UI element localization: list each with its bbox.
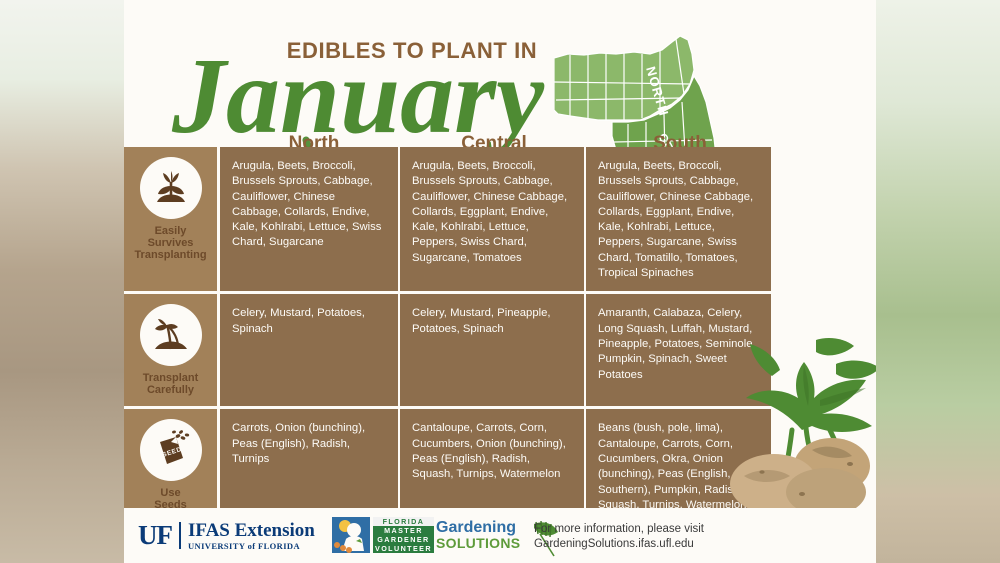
ifas-extension-text: IFAS Extension xyxy=(188,521,315,540)
cell-north-easily-survives-transplanting: Arugula, Beets, Broccoli, Brussels Sprou… xyxy=(220,147,400,291)
potato-plant-illustration xyxy=(716,280,876,510)
mg-line-florida: FLORIDA xyxy=(373,517,434,526)
uf-wordmark: UF xyxy=(138,520,172,551)
solutions-text: SOLUTIONS xyxy=(436,536,520,551)
seedling-in-soil-icon xyxy=(140,157,202,219)
logo-divider xyxy=(179,522,181,549)
university-of-florida-text: UNIVERSITY of FLORIDA xyxy=(188,542,315,551)
planting-table: Easily Survives Transplanting Arugula, B… xyxy=(124,147,774,526)
gardening-solutions-logo: Gardening SOLUTIONS xyxy=(436,520,520,551)
florida-master-gardener-volunteer-logo: FLORIDA MASTER GARDENER VOLUNTEER xyxy=(332,517,434,553)
cell-central-transplant-carefully: Celery, Mustard, Pineapple, Potatoes, Sp… xyxy=(400,294,586,406)
infographic-card: NORTH CENTRAL SOUTH EDIBLES TO PLANT IN … xyxy=(124,0,876,563)
table-row: Easily Survives Transplanting Arugula, B… xyxy=(124,147,774,294)
table-row: Transplant Carefully Celery, Mustard, Po… xyxy=(124,294,774,409)
row-icon-cell-transplant-carefully: Transplant Carefully xyxy=(124,294,220,406)
uf-ifas-extension-logo: UF IFAS Extension UNIVERSITY of FLORIDA xyxy=(138,520,315,551)
row-label-transplant-carefully: Transplant Carefully xyxy=(143,372,199,396)
row-label-easily-survives-transplanting: Easily Survives Transplanting xyxy=(134,225,206,261)
mg-line-gardener: GARDENER xyxy=(373,535,434,544)
screenshot-stage: NORTH CENTRAL SOUTH EDIBLES TO PLANT IN … xyxy=(0,0,1000,563)
more-info-line-1: For more information, please visit xyxy=(534,522,704,537)
more-info-text: For more information, please visit Garde… xyxy=(534,522,704,552)
cell-south-easily-survives-transplanting: Arugula, Beets, Broccoli, Brussels Sprou… xyxy=(586,147,771,291)
row-icon-cell-easily-survives-transplanting: Easily Survives Transplanting xyxy=(124,147,220,291)
cell-central-easily-survives-transplanting: Arugula, Beets, Broccoli, Brussels Sprou… xyxy=(400,147,586,291)
mg-line-volunteer: VOLUNTEER xyxy=(373,544,434,553)
more-info-line-2: GardeningSolutions.ifas.ufl.edu xyxy=(534,537,704,552)
footer-bar: UF IFAS Extension UNIVERSITY of FLORIDA xyxy=(124,508,876,563)
master-gardener-badge-icon xyxy=(332,517,370,553)
gardening-text: Gardening xyxy=(436,520,520,536)
seed-packet-icon: SEEDS xyxy=(140,419,202,481)
wilting-seedling-icon xyxy=(140,304,202,366)
cell-north-transplant-carefully: Celery, Mustard, Potatoes, Spinach xyxy=(220,294,400,406)
mg-line-master: MASTER xyxy=(373,526,434,535)
